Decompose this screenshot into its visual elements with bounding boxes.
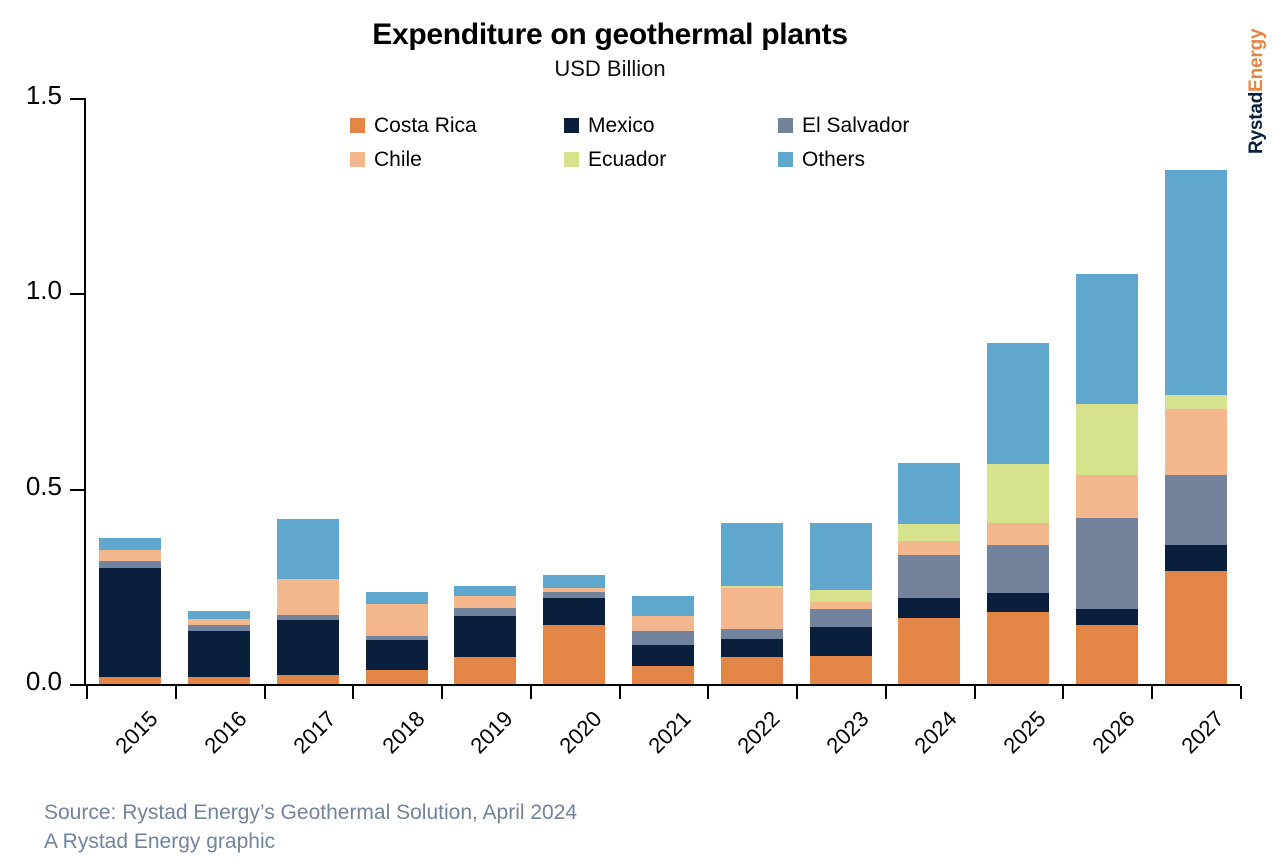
footer: Source: Rystad Energy’s Geothermal Solut… <box>44 798 577 856</box>
bar-segment-costa-rica[interactable] <box>543 625 605 684</box>
bar-segment-el-salvador[interactable] <box>1165 475 1227 545</box>
bar-segment-el-salvador[interactable] <box>188 625 250 631</box>
plot-area: 0.00.51.01.5 201520162017201820192020202… <box>0 0 1280 858</box>
bar-segment-mexico[interactable] <box>454 616 516 657</box>
bar-segment-chile[interactable] <box>632 616 694 632</box>
bar-segment-mexico[interactable] <box>1076 609 1138 625</box>
x-axis-tick <box>619 686 621 699</box>
bar-segment-chile[interactable] <box>987 523 1049 544</box>
bar-segment-chile[interactable] <box>1076 475 1138 518</box>
bar-segment-chile[interactable] <box>810 602 872 610</box>
bar-stack-2027[interactable] <box>1165 170 1227 684</box>
x-axis-tick <box>885 686 887 699</box>
bar-stack-2015[interactable] <box>99 538 161 685</box>
bar-segment-mexico[interactable] <box>987 593 1049 612</box>
x-axis-tick <box>352 686 354 699</box>
bar-segment-others[interactable] <box>366 592 428 604</box>
bar-stack-2019[interactable] <box>454 586 516 684</box>
bar-segment-el-salvador[interactable] <box>632 631 694 645</box>
bar-segment-mexico[interactable] <box>898 598 960 618</box>
bar-segment-costa-rica[interactable] <box>898 618 960 684</box>
x-axis-tick <box>1062 686 1064 699</box>
bar-segment-el-salvador[interactable] <box>898 555 960 598</box>
bar-segment-mexico[interactable] <box>188 631 250 677</box>
bar-segment-others[interactable] <box>543 575 605 588</box>
bar-segment-others[interactable] <box>987 343 1049 464</box>
bar-segment-chile[interactable] <box>277 579 339 615</box>
bar-stack-2020[interactable] <box>543 575 605 684</box>
bar-segment-others[interactable] <box>810 523 872 589</box>
bar-segment-chile[interactable] <box>721 588 783 629</box>
x-axis-tick <box>530 686 532 699</box>
bar-segment-ecuador[interactable] <box>898 524 960 542</box>
bar-segment-ecuador[interactable] <box>1076 404 1138 474</box>
bar-segment-mexico[interactable] <box>543 598 605 625</box>
bar-segment-ecuador[interactable] <box>810 590 872 602</box>
bar-segment-el-salvador[interactable] <box>366 636 428 640</box>
bar-stack-2026[interactable] <box>1076 274 1138 684</box>
bar-segment-mexico[interactable] <box>277 620 339 675</box>
bar-segment-chile[interactable] <box>188 619 250 626</box>
bar-segment-mexico[interactable] <box>810 627 872 656</box>
bar-segment-costa-rica[interactable] <box>632 666 694 684</box>
bar-segment-others[interactable] <box>632 596 694 616</box>
bar-segment-mexico[interactable] <box>99 568 161 676</box>
bar-segment-ecuador[interactable] <box>1165 395 1227 409</box>
x-axis-tick <box>264 686 266 699</box>
bar-segment-mexico[interactable] <box>632 645 694 666</box>
bar-segment-el-salvador[interactable] <box>277 615 339 620</box>
bar-segment-costa-rica[interactable] <box>987 612 1049 684</box>
bar-segment-el-salvador[interactable] <box>721 629 783 639</box>
bar-stack-2023[interactable] <box>810 523 872 684</box>
bar-segment-chile[interactable] <box>99 550 161 560</box>
bar-stack-2024[interactable] <box>898 463 960 684</box>
bar-segment-el-salvador[interactable] <box>987 545 1049 594</box>
x-axis-tick <box>974 686 976 699</box>
footer-credit: A Rystad Energy graphic <box>44 827 577 856</box>
x-axis-tick <box>441 686 443 699</box>
bar-segment-costa-rica[interactable] <box>99 677 161 684</box>
bar-segment-ecuador[interactable] <box>987 464 1049 523</box>
bar-segment-el-salvador[interactable] <box>543 592 605 598</box>
bar-segment-chile[interactable] <box>1165 409 1227 475</box>
bar-segment-costa-rica[interactable] <box>366 670 428 684</box>
bar-segment-mexico[interactable] <box>721 639 783 657</box>
bars-layer <box>0 0 1280 858</box>
bar-segment-chile[interactable] <box>898 541 960 555</box>
bar-segment-mexico[interactable] <box>1165 545 1227 570</box>
bar-segment-others[interactable] <box>99 538 161 551</box>
bar-stack-2016[interactable] <box>188 611 250 684</box>
bar-segment-costa-rica[interactable] <box>810 656 872 684</box>
x-axis-tick <box>86 686 88 699</box>
bar-segment-chile[interactable] <box>454 596 516 608</box>
bar-segment-costa-rica[interactable] <box>721 657 783 684</box>
x-axis-tick <box>1151 686 1153 699</box>
x-axis-tick <box>175 686 177 699</box>
bar-segment-others[interactable] <box>721 523 783 586</box>
bar-stack-2025[interactable] <box>987 343 1049 684</box>
bar-stack-2017[interactable] <box>277 519 339 684</box>
bar-segment-others[interactable] <box>454 586 516 596</box>
bar-segment-chile[interactable] <box>543 588 605 592</box>
x-axis-tick <box>707 686 709 699</box>
bar-segment-el-salvador[interactable] <box>810 609 872 627</box>
bar-stack-2021[interactable] <box>632 596 694 684</box>
x-axis-tick <box>1240 686 1242 699</box>
bar-segment-others[interactable] <box>1076 274 1138 404</box>
bar-segment-others[interactable] <box>1165 170 1227 395</box>
bar-stack-2018[interactable] <box>366 592 428 684</box>
bar-segment-costa-rica[interactable] <box>454 657 516 684</box>
bar-segment-chile[interactable] <box>366 604 428 636</box>
bar-segment-others[interactable] <box>277 519 339 579</box>
x-axis-tick <box>796 686 798 699</box>
bar-segment-el-salvador[interactable] <box>454 608 516 616</box>
bar-segment-others[interactable] <box>898 463 960 524</box>
bar-segment-el-salvador[interactable] <box>99 561 161 569</box>
bar-segment-costa-rica[interactable] <box>277 675 339 684</box>
footer-source: Source: Rystad Energy’s Geothermal Solut… <box>44 798 577 827</box>
bar-segment-costa-rica[interactable] <box>1076 625 1138 684</box>
bar-segment-mexico[interactable] <box>366 640 428 670</box>
bar-segment-others[interactable] <box>188 611 250 619</box>
bar-segment-el-salvador[interactable] <box>1076 518 1138 610</box>
bar-stack-2022[interactable] <box>721 523 783 684</box>
bar-segment-costa-rica[interactable] <box>1165 571 1227 684</box>
bar-segment-costa-rica[interactable] <box>188 677 250 684</box>
bar-segment-ecuador[interactable] <box>721 586 783 588</box>
